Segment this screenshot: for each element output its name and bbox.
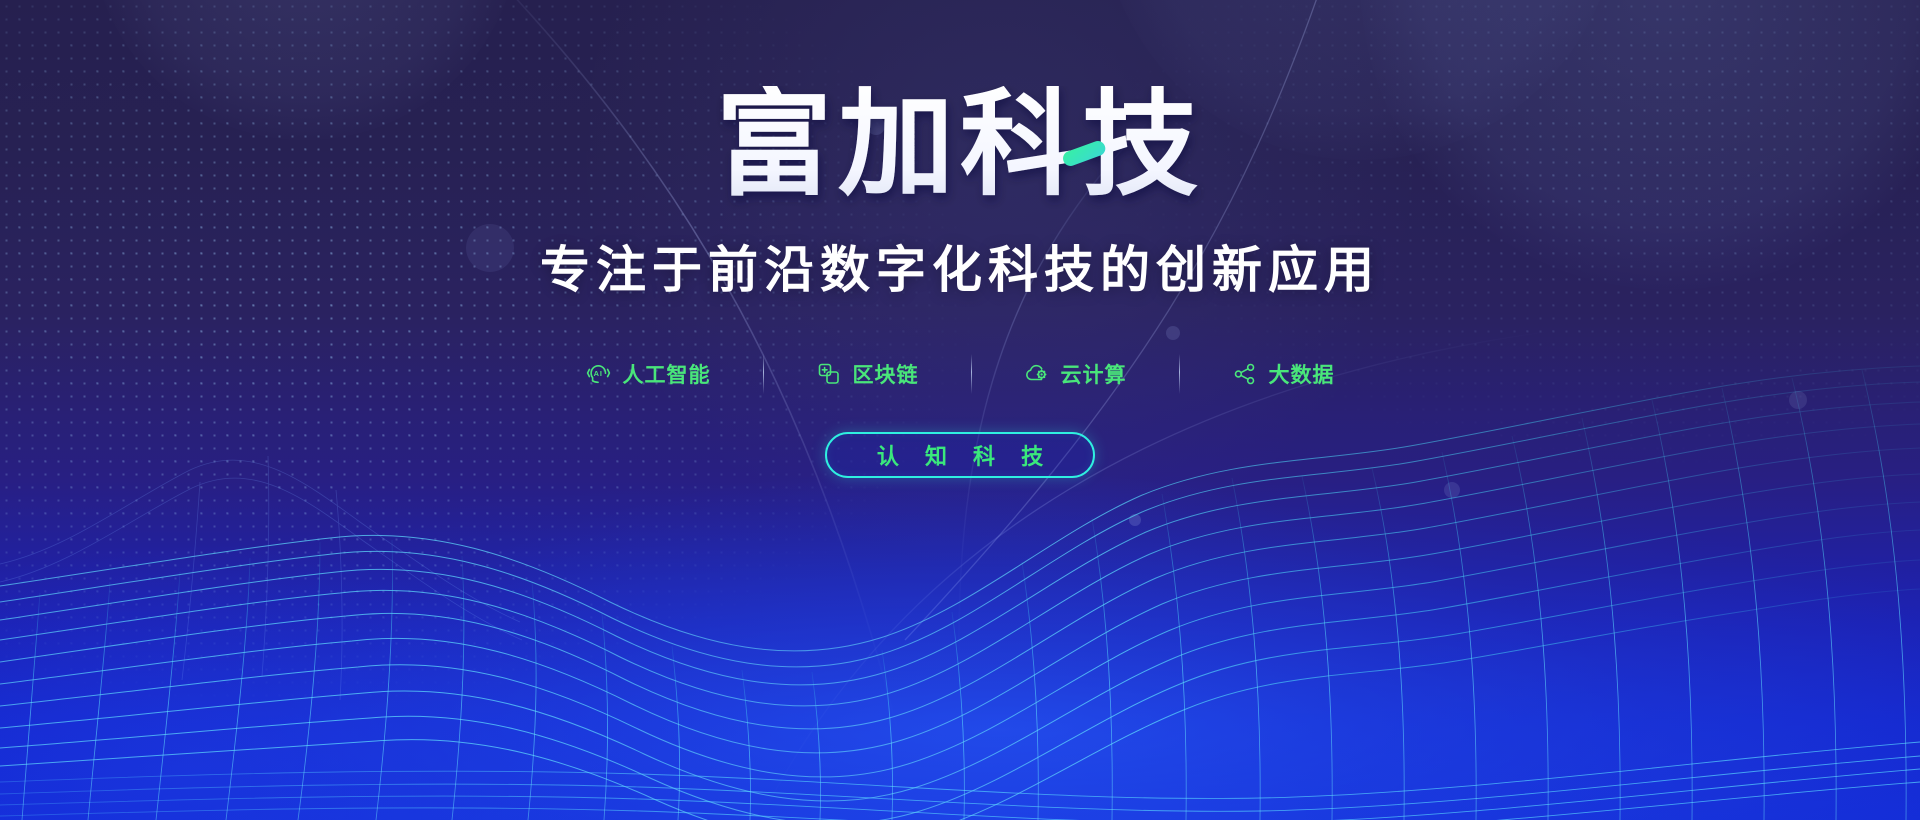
feature-tag-label: 大数据 [1269, 359, 1335, 389]
feature-tag-label: 云计算 [1061, 359, 1127, 389]
brand-title: 富加科技 [680, 88, 1240, 208]
feature-tag-label: 区块链 [853, 359, 919, 389]
hero-subtitle: 专注于前沿数字化科技的创新应用 [540, 230, 1380, 302]
cloud-gear-icon [1024, 361, 1050, 387]
brand-title-wordmark: 富加科技 [680, 86, 1240, 210]
feature-tag-cloud[interactable]: 云计算 [972, 359, 1179, 389]
ai-head-icon: AI [586, 361, 612, 387]
hero-content: 富加科技 专注于前沿数字化科技的创新应用 AI [0, 0, 1920, 820]
blockchain-blocks-icon [816, 361, 842, 387]
cta-button[interactable]: 认 知 科 技 [825, 432, 1095, 478]
feature-tag-blockchain[interactable]: 区块链 [764, 359, 971, 389]
feature-tag-label: 人工智能 [623, 359, 711, 389]
feature-tag-ai[interactable]: AI 人工智能 [534, 359, 763, 389]
brand-title-text: 富加科技 [716, 86, 1204, 209]
feature-tag-bigdata[interactable]: 大数据 [1180, 359, 1387, 389]
feature-tag-list: AI 人工智能 区块链 [534, 354, 1387, 394]
hero-banner: 富加科技 专注于前沿数字化科技的创新应用 AI [0, 0, 1920, 820]
share-network-icon [1232, 361, 1258, 387]
svg-text:AI: AI [593, 369, 602, 378]
